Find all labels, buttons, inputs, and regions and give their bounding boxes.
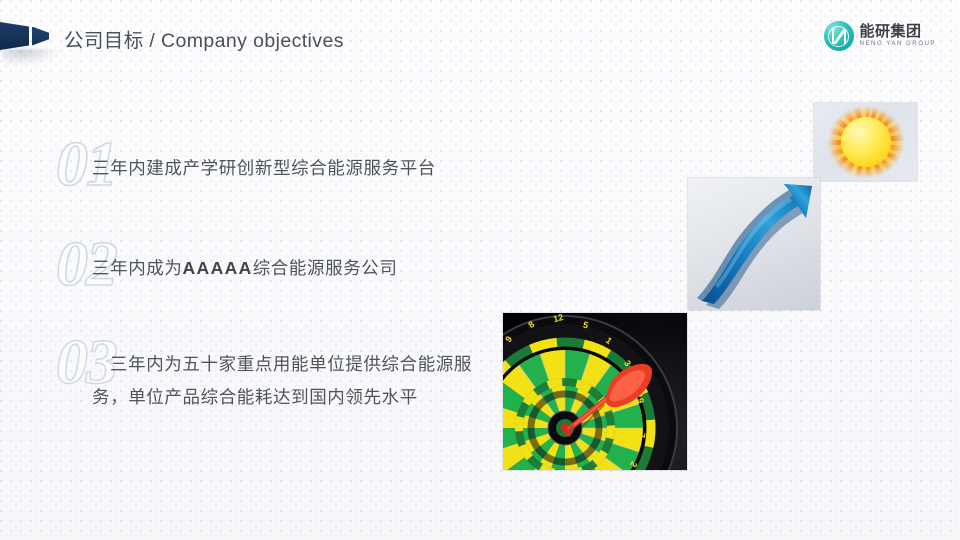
company-logo: 能研集团 NENG YAN GROUP — [824, 21, 936, 51]
objective-text: 三年内成为AAAAA综合能源服务公司 — [92, 252, 502, 285]
dartboard-icon: 9 8 12 5 1 3 19 7 2 — [503, 313, 687, 470]
sun-disc-icon — [841, 117, 891, 167]
page-title: 公司目标 / Company objectives — [64, 24, 344, 53]
dartboard-photo: 9 8 12 5 1 3 19 7 2 — [503, 313, 687, 470]
objective-text-before: 三年内成为 — [92, 258, 183, 278]
objective-text-after: 综合能源服务公司 — [253, 258, 398, 278]
chevron-shadow — [2, 49, 58, 65]
rising-arrow-icon — [688, 178, 820, 310]
sun-photo — [814, 103, 917, 181]
logo-name-cn: 能研集团 — [860, 24, 936, 39]
chevron-band-icon — [0, 22, 29, 50]
header-chevron-decoration — [0, 18, 62, 62]
objective-text: 三年内为五十家重点用能单位提供综合能源服务，单位产品综合能耗达到国内领先水平 — [92, 348, 490, 414]
objective-text: 三年内建成产学研创新型综合能源服务平台 — [92, 152, 492, 185]
objective-text-emphasis: AAAAA — [183, 258, 253, 278]
upward-arrow-photo — [688, 178, 820, 310]
slide-header: 公司目标 / Company objectives 能研集团 NENG YAN … — [0, 0, 960, 74]
logo-wordmark: 能研集团 NENG YAN GROUP — [860, 24, 936, 47]
slide-canvas: 公司目标 / Company objectives 能研集团 NENG YAN … — [0, 0, 960, 540]
svg-text:7: 7 — [637, 432, 647, 438]
logo-name-en: NENG YAN GROUP — [860, 41, 936, 47]
logo-mark-icon — [824, 21, 854, 51]
chevron-arrow-icon — [32, 27, 49, 46]
